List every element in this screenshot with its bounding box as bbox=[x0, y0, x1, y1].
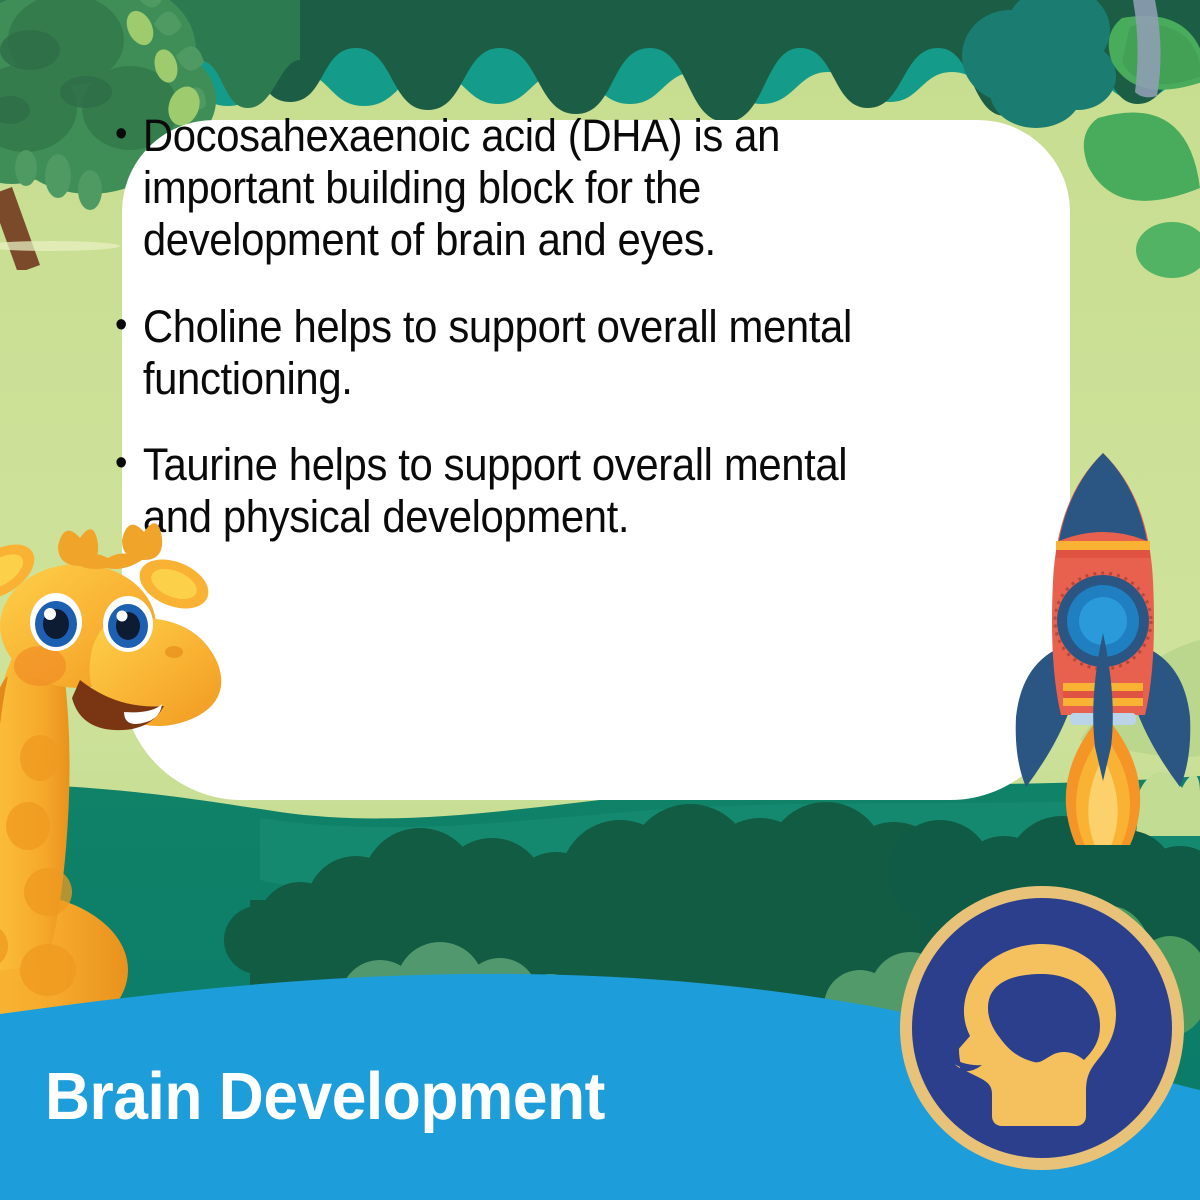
brain-head-icon[interactable] bbox=[896, 882, 1188, 1174]
slide-canvas: • Docosahexaenoic acid (DHA) is an impor… bbox=[0, 0, 1200, 1200]
page-title: Brain Development bbox=[45, 1058, 605, 1135]
